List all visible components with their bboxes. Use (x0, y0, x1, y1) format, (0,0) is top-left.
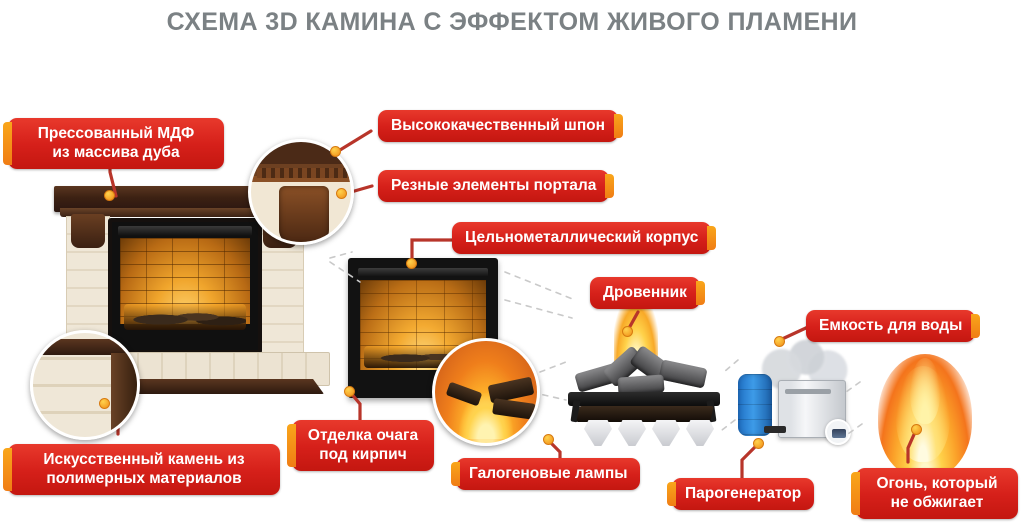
artificial-stone-magnifier (30, 330, 140, 440)
anchor-dot-woodbox (622, 326, 633, 337)
label-brick-hearth-finish[interactable]: Отделка очага под кирпич (292, 420, 434, 471)
infographic-canvas: СХЕМА 3D КАМИНА С ЭФФЕКТОМ ЖИВОГО ПЛАМЕН… (0, 0, 1024, 532)
anchor-dot-stone (99, 398, 110, 409)
anchor-dot-brick (344, 386, 355, 397)
anchor-dot-coldfire (911, 424, 922, 435)
label-pressed-mdf[interactable]: Прессованный МДФ из массива дуба (8, 118, 224, 169)
burning-embers-magnifier (432, 338, 540, 446)
label-carved-portal-elements[interactable]: Резные элементы портала (378, 170, 609, 202)
wood-side-detail (111, 353, 137, 440)
label-artificial-stone[interactable]: Искусственный камень из полимерных матер… (8, 444, 280, 495)
anchor-dot-veneer (330, 146, 341, 157)
label-fire-that-does-not-burn[interactable]: Огонь, который не обжигает (856, 468, 1018, 519)
anchor-dot-carved (336, 188, 347, 199)
label-halogen-lamps[interactable]: Галогеновые лампы (456, 458, 640, 490)
label-water-container[interactable]: Емкость для воды (806, 310, 975, 342)
anchor-dot-halogen (543, 434, 554, 445)
anchor-dot-water (774, 336, 785, 347)
anchor-dot-steamgen (753, 438, 764, 449)
label-steam-generator[interactable]: Парогенератор (672, 478, 814, 510)
carved-ornament-detail (279, 186, 329, 244)
label-woodbox[interactable]: Дровенник (590, 277, 700, 309)
anchor-dot-metal-body (406, 258, 417, 269)
label-high-quality-veneer[interactable]: Высококачественный шпон (378, 110, 618, 142)
anchor-dot-mdf (104, 190, 115, 201)
label-all-metal-body[interactable]: Цельнометаллический корпус (452, 222, 711, 254)
dentil-molding-detail (257, 168, 351, 178)
